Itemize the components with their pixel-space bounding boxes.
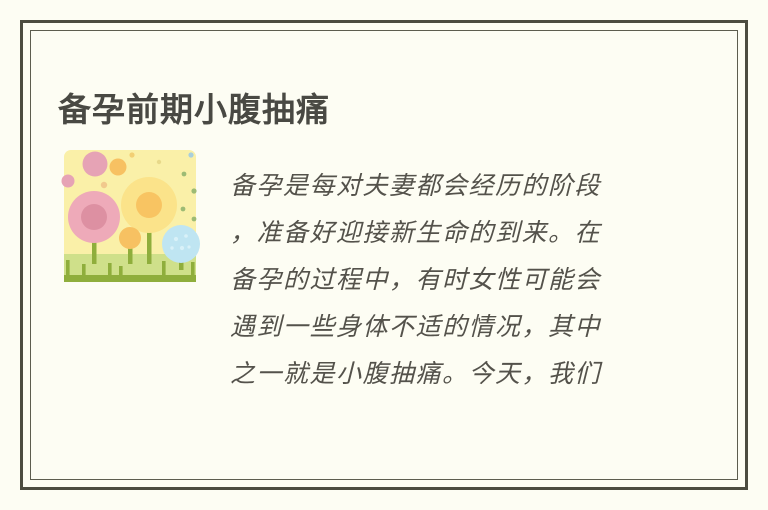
- flower-garden-illustration: [58, 144, 210, 296]
- body-line: 之一就是小腹抽痛。今天，我们: [230, 351, 662, 398]
- article-body: 备孕是每对夫妻都会经历的阶段 ，准备好迎接新生命的到来。在 备孕的过程中，有时女…: [230, 163, 662, 398]
- body-line: 备孕的过程中，有时女性可能会: [230, 257, 662, 304]
- page-title: 备孕前期小腹抽痛: [58, 90, 330, 130]
- body-line: ，准备好迎接新生命的到来。在: [230, 210, 662, 257]
- body-line: 备孕是每对夫妻都会经历的阶段: [230, 163, 662, 210]
- illustration-svg: [58, 144, 210, 296]
- article-page: 备孕前期小腹抽痛: [0, 0, 768, 510]
- article-content: 备孕前期小腹抽痛: [30, 30, 738, 480]
- body-line: 遇到一些身体不适的情况，其中: [230, 304, 662, 351]
